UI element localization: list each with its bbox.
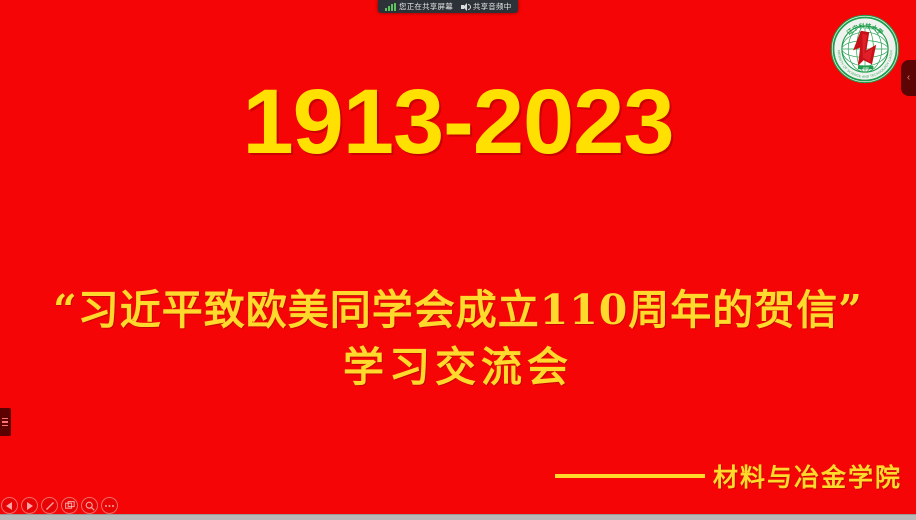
audio-share-status[interactable]: 共享音频中 xyxy=(457,0,516,13)
left-edge-panel-tab[interactable] xyxy=(0,408,11,436)
slide-subheadline: 学习交流会 xyxy=(0,340,916,394)
signature-label: 材料与冶金学院 xyxy=(713,458,902,494)
chevron-left-icon: ‹ xyxy=(907,73,910,83)
previous-slide-button[interactable] xyxy=(1,497,18,514)
speaker-icon xyxy=(461,3,470,11)
signature-rule xyxy=(555,474,705,478)
pen-annotate-button[interactable] xyxy=(41,497,58,514)
desktop-bottom-strip xyxy=(0,514,916,520)
slide-signature: 材料与冶金学院 xyxy=(555,458,902,494)
svg-text:1948: 1948 xyxy=(863,66,870,70)
signal-bars-icon xyxy=(385,3,396,11)
screen-share-label: 您正在共享屏幕 xyxy=(399,0,453,13)
zoom-magnifier-button[interactable] xyxy=(81,497,98,514)
right-panel-collapse-handle[interactable]: ‹ xyxy=(901,60,916,96)
screen-share-status[interactable]: 您正在共享屏幕 xyxy=(381,0,457,13)
audio-share-label: 共享音频中 xyxy=(473,0,512,13)
slide-year-range: 1913-2023 xyxy=(0,70,916,175)
all-slides-button[interactable] xyxy=(61,497,78,514)
zoom-share-indicator-bar[interactable]: 您正在共享屏幕 共享音频中 xyxy=(378,0,518,13)
more-options-button[interactable] xyxy=(101,497,118,514)
university-seal-logo: 1948 辽宁科技大学 UNIVERSITY OF SCIENCE AND TE… xyxy=(830,14,900,84)
next-slide-button[interactable] xyxy=(21,497,38,514)
slide-headline: “习近平致欧美同学会成立110周年的贺信” xyxy=(0,283,916,337)
presenter-toolbar[interactable] xyxy=(0,497,118,514)
screen-share-surface: 您正在共享屏幕 共享音频中 1948 xyxy=(0,0,916,520)
